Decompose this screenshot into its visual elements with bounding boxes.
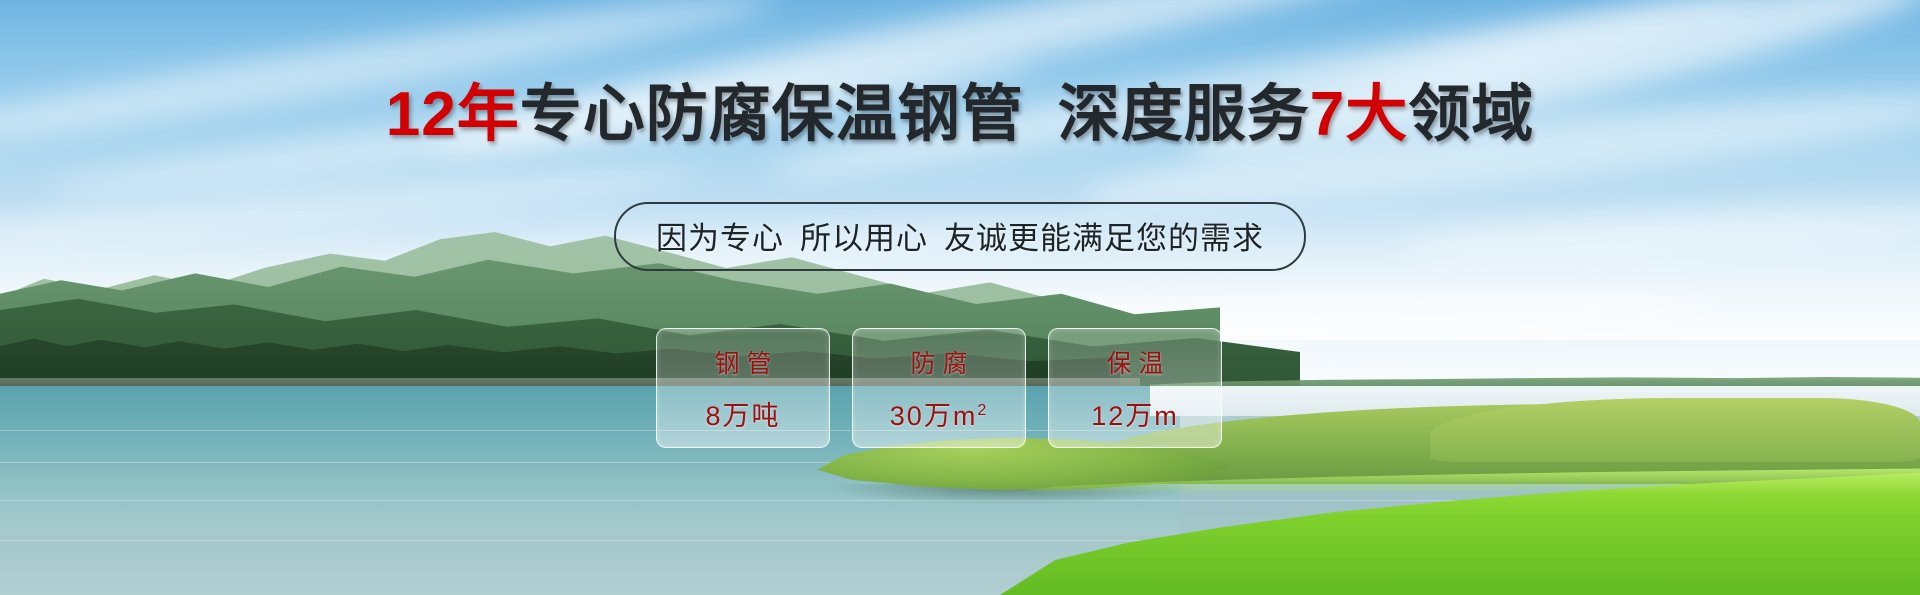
headline-fields-number: 7 [1310, 80, 1345, 149]
stat-label: 保温 [1099, 344, 1170, 380]
stat-value-text: 30万m [890, 401, 978, 431]
headline-fields-unit: 大 [1345, 80, 1408, 149]
stat-card-anticorrosion[interactable]: 防腐 30万m2 [852, 328, 1026, 448]
stat-value-superscript: 2 [977, 402, 988, 419]
headline-years-number: 12 [386, 80, 457, 149]
hero-banner: 12年专心防腐保温钢管深度服务7大领域 因为专心所以用心友诚更能满足您的需求 钢… [0, 0, 1920, 595]
stat-value: 12万m [1091, 394, 1179, 433]
stat-card-group: 钢管 8万吨 防腐 30万m2 保温 12万m [656, 328, 1222, 448]
headline-years-unit: 年 [457, 80, 520, 149]
stat-value: 8万吨 [705, 394, 780, 433]
headline-fields-text: 领域 [1408, 80, 1534, 149]
subtitle-part-1: 因为专心 [656, 221, 784, 256]
stat-label: 钢管 [707, 344, 778, 380]
stat-value: 30万m2 [890, 394, 988, 433]
stat-card-steel-pipe[interactable]: 钢管 8万吨 [656, 328, 830, 448]
headline-service-text: 深度服务 [1058, 80, 1310, 149]
headline-mid-text: 专心防腐保温钢管 [520, 80, 1024, 149]
stat-value-text: 8万吨 [705, 401, 780, 431]
stat-card-insulation[interactable]: 保温 12万m [1048, 328, 1222, 448]
stat-label: 防腐 [903, 344, 974, 380]
subtitle-part-2: 所以用心 [800, 221, 928, 256]
stat-value-text: 12万m [1091, 401, 1179, 431]
subtitle-part-3: 友诚更能满足您的需求 [944, 221, 1264, 256]
banner-subtitle-pill: 因为专心所以用心友诚更能满足您的需求 [614, 202, 1306, 271]
banner-headline: 12年专心防腐保温钢管深度服务7大领域 [0, 84, 1920, 146]
